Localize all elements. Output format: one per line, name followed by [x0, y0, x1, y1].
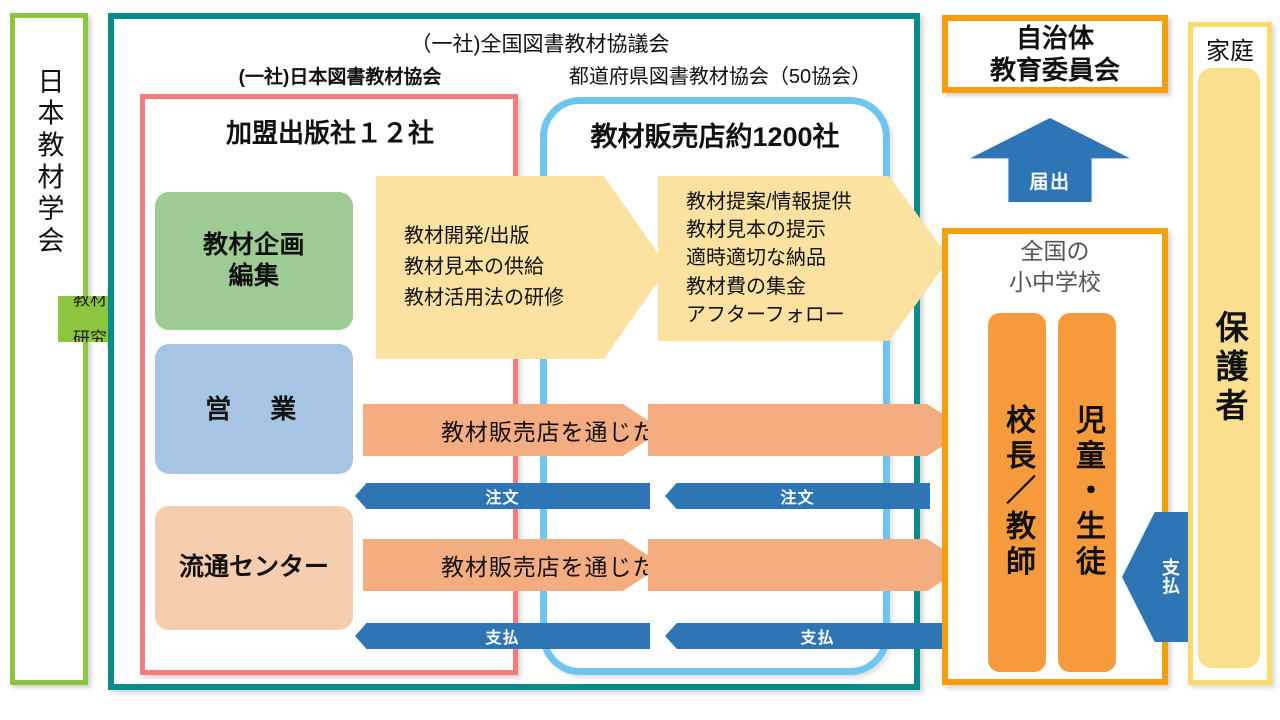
publisher-box-sales: 営 業: [155, 344, 353, 474]
japan-society-label: 日本教材学会: [10, 13, 88, 313]
payment-arrow-left: 支払: [355, 623, 650, 649]
order-arrow-right-label: 注文: [781, 484, 815, 508]
planning-line1: 教材企画: [203, 231, 305, 259]
payment-arrow-right-label: 支払: [801, 624, 835, 648]
school-column-pupils-students-label: 児童・生徒: [1058, 313, 1116, 672]
callout2-line5: アフターフォロー: [686, 301, 852, 329]
callout2-line3: 適時適切な納品: [686, 244, 852, 272]
school-column-principal-teacher-label: 校長／教師: [988, 313, 1046, 672]
callout-dealer-to-school-text: 教材提案/情報提供 教材見本の提示 適時適切な納品 教材費の集金 アフターフォロ…: [686, 188, 852, 330]
planning-line2: 編集: [228, 262, 279, 290]
prefectural-association-caption: 都道府県図書教材協会（50協会）: [530, 60, 910, 89]
order-arrow-left: 注文: [355, 483, 650, 509]
callout1-line3: 教材活用法の研修: [404, 283, 564, 314]
dealers-heading: 教材販売店約1200社: [545, 115, 885, 154]
municipality-board-box: 自治体教育委員会: [942, 15, 1168, 93]
publisher-box-distribution-center: 流通センター: [155, 506, 353, 630]
callout2-line2: 教材見本の提示: [686, 216, 852, 244]
notification-arrow-label: 届出: [1029, 167, 1070, 194]
delivery-arrow-right: [648, 539, 968, 591]
schools-title-line2: 小中学校: [942, 267, 1168, 298]
callout-publisher-to-dealer-text: 教材開発/出版 教材見本の供給 教材活用法の研修: [404, 221, 564, 314]
guardian-label: 保護者: [1198, 68, 1260, 668]
callout1-line2: 教材見本の供給: [404, 252, 564, 283]
payment-arrow-right: 支払: [665, 623, 970, 649]
family-label: 家庭: [1188, 26, 1272, 70]
publisher-box-planning-label: 教材企画編集: [203, 230, 305, 293]
municipality-line2: 教育委員会: [990, 55, 1120, 85]
national-council-caption: （一社)全国図書教材協議会: [310, 28, 770, 58]
notification-arrow: 届出: [970, 118, 1130, 202]
order-arrow-left-label: 注文: [486, 484, 520, 508]
order-arrow-right: 注文: [665, 483, 930, 509]
schools-title: 全国の 小中学校: [942, 236, 1168, 298]
publisher-box-planning: 教材企画編集: [155, 192, 353, 330]
callout2-line4: 教材費の集金: [686, 273, 852, 301]
japan-association-caption: (一社)日本図書教材協会: [160, 62, 520, 89]
municipality-board-label: 自治体教育委員会: [990, 22, 1120, 87]
publishers-heading: 加盟出版社１２社: [150, 113, 510, 150]
payment-arrow-left-label: 支払: [486, 624, 520, 648]
school-column-pupils-students: 児童・生徒: [1058, 313, 1116, 672]
school-column-principal-teacher: 校長／教師: [988, 313, 1046, 672]
diagram-canvas: 日本教材学会 教材研究 （一社)全国図書教材協議会 (一社)日本図書教材協会 都…: [0, 0, 1280, 720]
delivery-arrow-left: 教材販売店を通じた納品（供給）: [363, 539, 663, 591]
research-arrow-label: 教材研究: [81, 290, 107, 349]
callout2-line1: 教材提案/情報提供: [686, 188, 852, 216]
sample-presentation-arrow-left: 教材販売店を通じた教材見本の提示: [363, 404, 663, 456]
guardian-bar: 保護者: [1198, 68, 1260, 668]
callout-dealer-to-school: 教材提案/情報提供 教材見本の提示 適時適切な納品 教材費の集金 アフターフォロ…: [658, 176, 950, 341]
sample-presentation-arrow-right: [648, 404, 968, 456]
callout1-line1: 教材開発/出版: [404, 221, 564, 252]
family-payment-arrow-label: 支払: [1157, 558, 1183, 596]
schools-title-line1: 全国の: [942, 236, 1168, 267]
municipality-line1: 自治体: [1016, 23, 1094, 53]
